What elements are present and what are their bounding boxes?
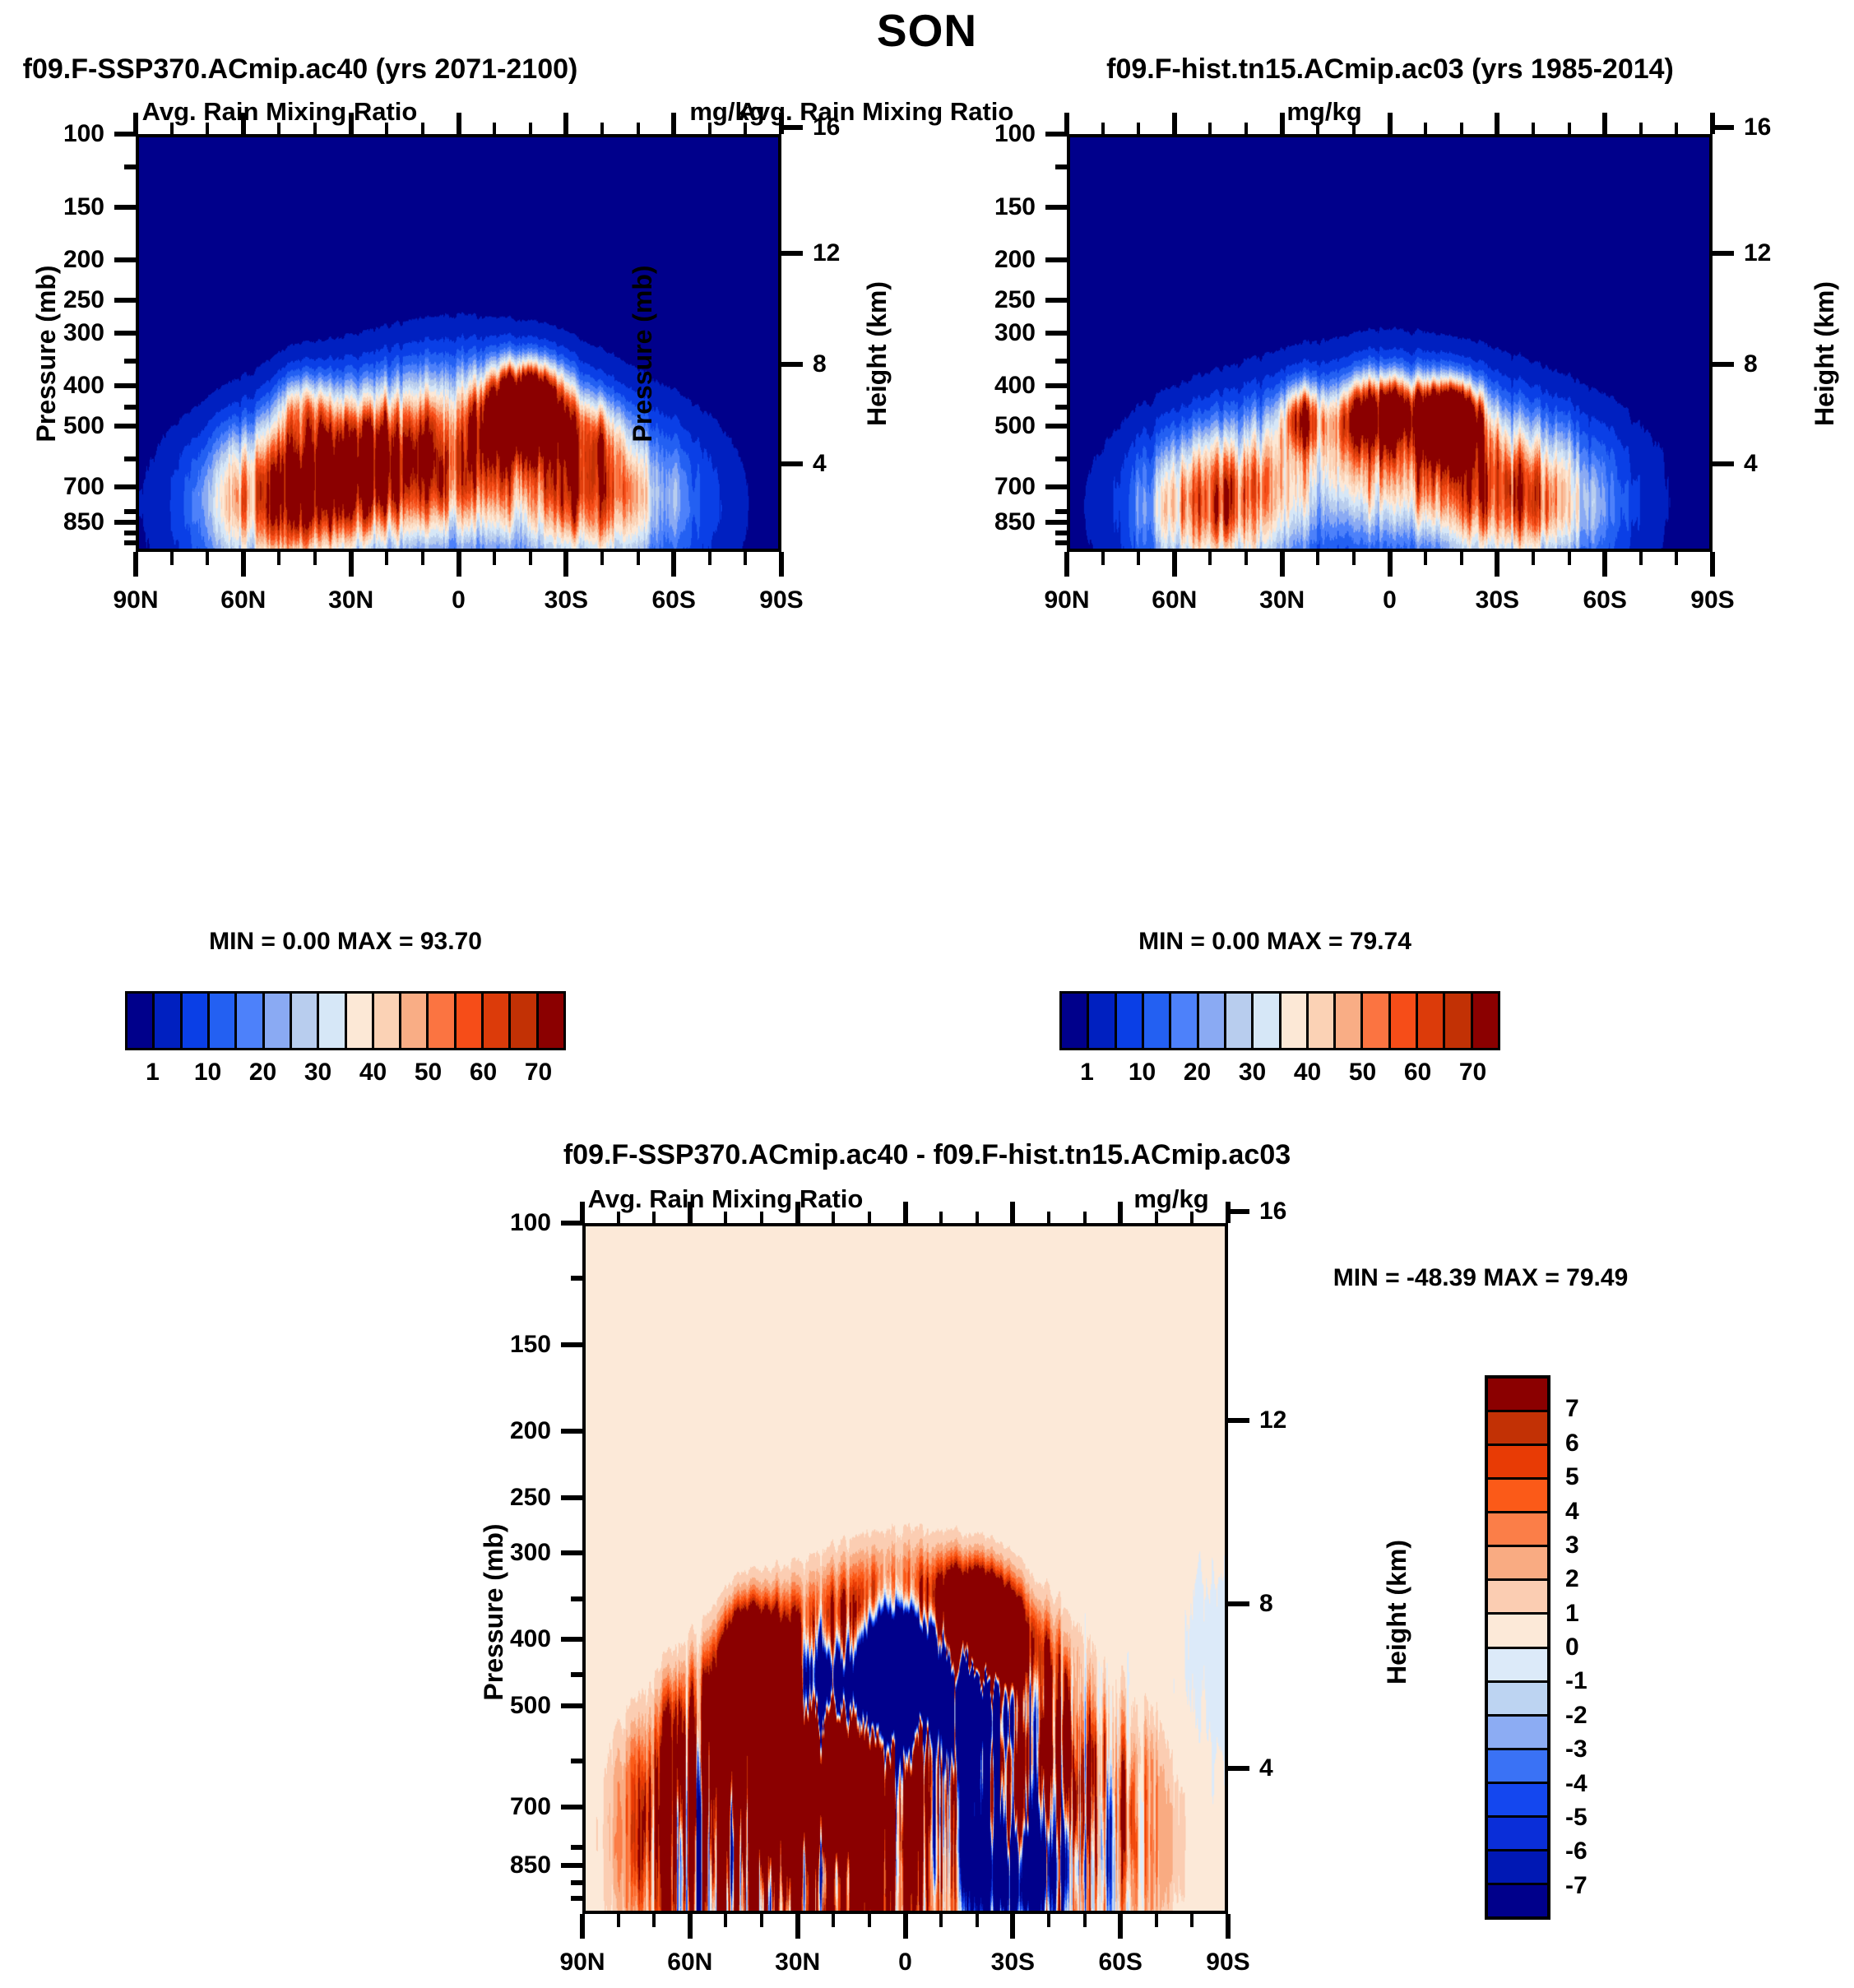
bottom-tick-tl-30 (349, 552, 354, 577)
ylabel-bottom: Pressure (mb) (479, 1523, 509, 1700)
top-tick-tl-0 (457, 113, 461, 134)
x-ticklabel-tr-1: 60N (1152, 586, 1197, 614)
bottom-tick-bd--10 (939, 1914, 943, 1927)
x-ticklabel-tl-2: 30N (328, 586, 373, 614)
bottom-tick-tr-80 (1101, 552, 1105, 565)
bottom-tick-tr-90 (1064, 552, 1069, 577)
height-tick-bd-1 (1228, 1418, 1249, 1423)
top-tick-tr-30 (1280, 113, 1285, 134)
pressure-minortick-tr-5 (1055, 531, 1067, 535)
pressure-tick-tl-2 (114, 257, 136, 262)
contour-plot-top-left (136, 134, 781, 552)
colorbar-cell-bd-14 (1488, 1851, 1547, 1885)
minmax-bottom: MIN = -48.39 MAX = 79.49 (1333, 1264, 1629, 1292)
x-ticklabel-tr-4: 30S (1476, 586, 1519, 614)
colorbar-ticklabel-bd-2: 5 (1565, 1463, 1579, 1491)
pressure-tick-tr-7 (1045, 484, 1067, 489)
colorbar-ticklabel-tl-1: 10 (194, 1059, 221, 1087)
colorbar-ticklabel-tr-3: 30 (1239, 1059, 1266, 1087)
colorbar-cell-tl-1 (155, 994, 182, 1048)
bottom-tick-tr--40 (1532, 552, 1535, 565)
pressure-minortick-tr-3 (1055, 456, 1067, 461)
colorbar-cell-tr-11 (1363, 994, 1390, 1048)
y2label-top-right: Height (km) (1810, 281, 1840, 426)
top-tick-tl--30 (563, 113, 568, 134)
bottom-tick-bd-10 (868, 1914, 871, 1927)
pressure-minortick-tl-6 (124, 540, 136, 545)
x-ticklabel-tl-4: 30S (545, 586, 588, 614)
top-tick-tr-70 (1137, 123, 1140, 134)
bottom-tick-tl--60 (671, 552, 676, 577)
bottom-tick-bd-20 (832, 1914, 835, 1927)
colorbar-top-right[interactable] (1059, 991, 1500, 1050)
top-tick-tr--20 (1460, 123, 1463, 134)
bottom-tick-bd--80 (1190, 1914, 1194, 1927)
top-tick-tl-50 (277, 123, 280, 134)
pressure-minortick-tl-2 (124, 405, 136, 410)
colorbar-cell-bd-7 (1488, 1615, 1547, 1648)
pressure-ticklabel-bd-2: 200 (510, 1417, 551, 1445)
top-tick-tr-90 (1064, 113, 1069, 134)
top-tick-bd-10 (868, 1212, 871, 1223)
colorbar-cell-tr-13 (1418, 994, 1445, 1048)
pressure-minortick-bd-4 (571, 1845, 582, 1850)
colorbar-cell-tr-6 (1226, 994, 1254, 1048)
top-tick-tr-20 (1316, 123, 1319, 134)
colorbar-ticklabel-bd-0: 7 (1565, 1395, 1579, 1423)
bottom-tick-tr-60 (1172, 552, 1177, 577)
colorbar-cell-tl-0 (127, 994, 155, 1048)
top-tick-bd-70 (652, 1212, 656, 1223)
ylabel-top-right: Pressure (mb) (628, 265, 658, 442)
colorbar-cell-bd-0 (1488, 1379, 1547, 1412)
top-tick-bd-20 (832, 1212, 835, 1223)
colorbar-cell-tl-10 (401, 994, 429, 1048)
colorbar-cell-tr-8 (1282, 994, 1309, 1048)
bottom-tick-tl-60 (241, 552, 246, 577)
top-tick-tl--40 (600, 123, 604, 134)
height-tick-tr-1 (1713, 251, 1734, 256)
bottom-tick-bd--90 (1226, 1914, 1231, 1939)
colorbar-ticklabel-bd-10: -3 (1565, 1735, 1587, 1763)
x-ticklabel-tl-1: 60N (220, 586, 266, 614)
pressure-ticklabel-tr-5: 400 (994, 372, 1036, 400)
height-ticklabel-bd-0: 16 (1259, 1198, 1286, 1226)
height-ticklabel-bd-2: 8 (1259, 1590, 1273, 1618)
height-ticklabel-tr-0: 16 (1744, 114, 1771, 141)
bottom-tick-tr--30 (1495, 552, 1499, 577)
colorbar-cell-bd-8 (1488, 1649, 1547, 1683)
top-tick-bd--40 (1047, 1212, 1050, 1223)
panel-title-top-right: f09.F-hist.tn15.ACmip.ac03 (yrs 1985-201… (1106, 53, 1674, 86)
top-tick-bd--60 (1118, 1202, 1123, 1223)
colorbar-ticklabel-bd-4: 3 (1565, 1532, 1579, 1559)
bottom-tick-tr--60 (1602, 552, 1607, 577)
top-tick-tl-20 (385, 123, 388, 134)
height-ticklabel-tr-1: 12 (1744, 239, 1771, 267)
top-tick-tl-70 (206, 123, 209, 134)
height-ticklabel-tl-2: 8 (813, 350, 827, 378)
bottom-tick-tr--20 (1460, 552, 1463, 565)
variable-label-bottom: Avg. Rain Mixing Ratio (588, 1184, 864, 1214)
top-tick-tr--60 (1602, 113, 1607, 134)
pressure-ticklabel-tr-0: 100 (994, 120, 1036, 148)
pressure-tick-bd-4 (561, 1550, 582, 1555)
pressure-ticklabel-bd-6: 500 (510, 1692, 551, 1720)
colorbar-cell-tl-6 (292, 994, 319, 1048)
top-tick-bd--30 (1010, 1202, 1015, 1223)
colorbar-cell-tr-9 (1309, 994, 1336, 1048)
top-tick-tr--80 (1675, 123, 1678, 134)
pressure-ticklabel-tl-6: 500 (63, 412, 104, 440)
pressure-ticklabel-tr-1: 150 (994, 193, 1036, 221)
contour-canvas-bottom (586, 1226, 1225, 1911)
x-ticklabel-tr-2: 30N (1259, 586, 1305, 614)
bottom-tick-tr-20 (1316, 552, 1319, 565)
height-tick-tl-2 (781, 362, 803, 367)
colorbar-cell-tl-11 (429, 994, 456, 1048)
bottom-tick-bd-90 (580, 1914, 585, 1939)
top-tick-tl-90 (133, 113, 138, 134)
pressure-ticklabel-tl-4: 300 (63, 319, 104, 347)
units-label-bottom: mg/kg (1133, 1184, 1208, 1214)
pressure-ticklabel-tl-1: 150 (63, 193, 104, 221)
pressure-ticklabel-tl-7: 700 (63, 473, 104, 501)
ylabel-top-left: Pressure (mb) (31, 265, 62, 442)
top-tick-tl--90 (779, 113, 784, 134)
top-tick-tl--60 (671, 113, 676, 134)
pressure-tick-tl-8 (114, 520, 136, 525)
bottom-tick-tl--20 (529, 552, 532, 565)
bottom-tick-tl-40 (313, 552, 317, 565)
height-ticklabel-tl-1: 12 (813, 239, 840, 267)
bottom-tick-tl-10 (421, 552, 424, 565)
top-tick-bd-40 (760, 1212, 763, 1223)
height-ticklabel-bd-1: 12 (1259, 1406, 1286, 1434)
colorbar-cell-bd-1 (1488, 1412, 1547, 1446)
colorbar-ticklabel-tl-4: 40 (359, 1059, 387, 1087)
pressure-minortick-tl-5 (124, 531, 136, 535)
pressure-tick-tr-4 (1045, 331, 1067, 336)
bottom-tick-tl-20 (385, 552, 388, 565)
panel-title-top-left: f09.F-SSP370.ACmip.ac40 (yrs 2071-2100) (23, 53, 578, 86)
pressure-tick-bd-7 (561, 1805, 582, 1810)
colorbar-cell-bd-11 (1488, 1750, 1547, 1784)
bottom-tick-tr--10 (1424, 552, 1427, 565)
pressure-tick-tr-6 (1045, 424, 1067, 429)
bottom-tick-tr-50 (1208, 552, 1212, 565)
colorbar-cell-bd-15 (1488, 1885, 1547, 1916)
bottom-tick-tr-70 (1137, 552, 1140, 565)
pressure-minortick-tr-4 (1055, 509, 1067, 514)
pressure-ticklabel-tl-3: 250 (63, 286, 104, 314)
bottom-tick-tl-90 (133, 552, 138, 577)
colorbar-cell-bd-13 (1488, 1818, 1547, 1851)
height-tick-bd-3 (1228, 1766, 1249, 1771)
bottom-tick-bd--70 (1155, 1914, 1158, 1927)
pressure-minortick-bd-2 (571, 1672, 582, 1677)
bottom-tick-tl-0 (457, 552, 461, 577)
contour-canvas-top-left (139, 137, 778, 549)
colorbar-cell-bd-5 (1488, 1547, 1547, 1581)
bottom-tick-bd-0 (903, 1914, 908, 1939)
bottom-tick-tl-50 (277, 552, 280, 565)
height-tick-tl-1 (781, 251, 803, 256)
colorbar-ticklabel-bd-7: 0 (1565, 1633, 1579, 1661)
pressure-tick-tr-3 (1045, 298, 1067, 303)
y2label-top-left: Height (km) (862, 281, 892, 426)
bottom-tick-tl--70 (708, 552, 711, 565)
bottom-tick-bd-30 (795, 1914, 800, 1939)
pressure-minortick-tl-0 (124, 165, 136, 169)
pressure-tick-bd-6 (561, 1703, 582, 1708)
top-tick-tr-40 (1244, 123, 1248, 134)
pressure-minortick-bd-0 (571, 1276, 582, 1281)
colorbar-ticklabel-tr-2: 20 (1184, 1059, 1211, 1087)
top-tick-tr-50 (1208, 123, 1212, 134)
pressure-ticklabel-tl-5: 400 (63, 372, 104, 400)
bottom-tick-bd--30 (1010, 1914, 1015, 1939)
top-tick-tl--70 (708, 123, 711, 134)
pressure-minortick-tr-0 (1055, 165, 1067, 169)
height-tick-tr-2 (1713, 362, 1734, 367)
bottom-tick-tr--90 (1710, 552, 1715, 577)
colorbar-ticklabel-bd-14: -7 (1565, 1872, 1587, 1900)
colorbar-cell-tl-9 (374, 994, 401, 1048)
x-ticklabel-tr-3: 0 (1383, 586, 1397, 614)
bottom-tick-tl--10 (493, 552, 496, 565)
pressure-tick-bd-5 (561, 1637, 582, 1642)
top-tick-bd-0 (903, 1202, 908, 1223)
colorbar-cell-bd-3 (1488, 1480, 1547, 1513)
colorbar-cell-tr-4 (1171, 994, 1198, 1048)
bottom-tick-bd--50 (1083, 1914, 1087, 1927)
pressure-minortick-tr-2 (1055, 405, 1067, 410)
top-tick-tl-10 (421, 123, 424, 134)
colorbar-cell-tr-7 (1254, 994, 1281, 1048)
pressure-ticklabel-bd-3: 250 (510, 1484, 551, 1512)
colorbar-cell-tr-15 (1473, 994, 1498, 1048)
height-tick-tr-0 (1713, 125, 1734, 130)
bottom-tick-tl--80 (744, 552, 747, 565)
bottom-tick-bd--60 (1118, 1914, 1123, 1939)
x-ticklabel-tr-6: 90S (1690, 586, 1734, 614)
pressure-minortick-tr-6 (1055, 540, 1067, 545)
colorbar-ticklabel-tr-4: 40 (1294, 1059, 1321, 1087)
pressure-ticklabel-bd-4: 300 (510, 1539, 551, 1567)
pressure-tick-bd-2 (561, 1429, 582, 1434)
height-ticklabel-tl-0: 16 (813, 114, 840, 141)
pressure-ticklabel-tl-0: 100 (63, 120, 104, 148)
colorbar-ticklabel-tl-3: 30 (304, 1059, 331, 1087)
bottom-tick-bd-70 (652, 1914, 656, 1927)
top-tick-tr--10 (1424, 123, 1427, 134)
bottom-tick-tr-10 (1352, 552, 1356, 565)
pressure-tick-tl-4 (114, 331, 136, 336)
colorbar-ticklabel-bd-13: -6 (1565, 1837, 1587, 1865)
top-tick-tl-40 (313, 123, 317, 134)
colorbar-bottom[interactable] (1485, 1375, 1550, 1920)
bottom-tick-tr-0 (1388, 552, 1393, 577)
height-tick-tl-3 (781, 461, 803, 466)
colorbar-ticklabel-tl-2: 20 (249, 1059, 276, 1087)
colorbar-ticklabel-tr-7: 70 (1459, 1059, 1486, 1087)
top-tick-bd-80 (617, 1212, 620, 1223)
x-ticklabel-tl-6: 90S (759, 586, 803, 614)
pressure-minortick-tr-1 (1055, 359, 1067, 364)
colorbar-cell-tr-14 (1445, 994, 1472, 1048)
bottom-tick-tl--90 (779, 552, 784, 577)
colorbar-cell-bd-4 (1488, 1513, 1547, 1547)
colorbar-cell-bd-12 (1488, 1784, 1547, 1818)
bottom-tick-bd-80 (617, 1914, 620, 1927)
top-tick-tr-80 (1101, 123, 1105, 134)
bottom-tick-tr--70 (1639, 552, 1643, 565)
colorbar-cell-tl-5 (265, 994, 292, 1048)
height-tick-bd-2 (1228, 1601, 1249, 1606)
bottom-tick-tr--80 (1675, 552, 1678, 565)
x-ticklabel-bd-5: 60S (1098, 1949, 1142, 1976)
contour-plot-top-right (1067, 134, 1713, 552)
height-ticklabel-tl-3: 4 (813, 450, 827, 478)
pressure-ticklabel-tr-7: 700 (994, 473, 1036, 501)
top-tick-bd--80 (1190, 1212, 1194, 1223)
pressure-ticklabel-bd-8: 850 (510, 1851, 551, 1879)
x-ticklabel-tr-5: 60S (1583, 586, 1626, 614)
colorbar-cell-bd-9 (1488, 1683, 1547, 1717)
colorbar-cell-tr-1 (1089, 994, 1116, 1048)
colorbar-cell-tl-13 (484, 994, 511, 1048)
pressure-tick-tl-6 (114, 424, 136, 429)
contour-plot-bottom (582, 1223, 1228, 1914)
pressure-minortick-tl-4 (124, 509, 136, 514)
top-tick-tl--50 (637, 123, 640, 134)
top-tick-bd--10 (939, 1212, 943, 1223)
top-tick-tr-60 (1172, 113, 1177, 134)
colorbar-ticklabel-bd-9: -2 (1565, 1702, 1587, 1730)
colorbar-ticklabel-tr-1: 10 (1129, 1059, 1156, 1087)
pressure-tick-tl-3 (114, 298, 136, 303)
colorbar-ticklabel-tl-6: 60 (470, 1059, 497, 1087)
pressure-ticklabel-tr-4: 300 (994, 319, 1036, 347)
pressure-minortick-bd-5 (571, 1880, 582, 1885)
pressure-ticklabel-tr-3: 250 (994, 286, 1036, 314)
colorbar-ticklabel-bd-6: 1 (1565, 1600, 1579, 1628)
pressure-minortick-bd-6 (571, 1896, 582, 1901)
colorbar-ticklabel-tl-0: 1 (146, 1059, 160, 1087)
contour-canvas-top-right (1070, 137, 1709, 549)
x-ticklabel-bd-6: 90S (1206, 1949, 1249, 1976)
pressure-ticklabel-tr-6: 500 (994, 412, 1036, 440)
pressure-tick-tr-2 (1045, 257, 1067, 262)
pressure-ticklabel-bd-1: 150 (510, 1331, 551, 1359)
colorbar-cell-tl-8 (347, 994, 374, 1048)
colorbar-ticklabel-tr-5: 50 (1349, 1059, 1376, 1087)
bottom-tick-bd-40 (760, 1914, 763, 1927)
top-tick-tl-60 (241, 113, 246, 134)
colorbar-ticklabel-tl-5: 50 (415, 1059, 442, 1087)
pressure-tick-tl-7 (114, 484, 136, 489)
pressure-ticklabel-bd-5: 400 (510, 1625, 551, 1653)
pressure-ticklabel-bd-7: 700 (510, 1793, 551, 1821)
colorbar-cell-tl-7 (319, 994, 346, 1048)
top-tick-tr--30 (1495, 113, 1499, 134)
minmax-top-left: MIN = 0.00 MAX = 93.70 (209, 928, 482, 956)
top-tick-bd--90 (1226, 1202, 1231, 1223)
x-ticklabel-tl-3: 0 (452, 586, 466, 614)
colorbar-ticklabel-bd-1: 6 (1565, 1430, 1579, 1457)
pressure-tick-tr-5 (1045, 383, 1067, 388)
colorbar-ticklabel-bd-5: 2 (1565, 1565, 1579, 1593)
top-tick-tr--70 (1639, 123, 1643, 134)
bottom-tick-tr-40 (1244, 552, 1248, 565)
bottom-tick-tr--50 (1568, 552, 1571, 565)
top-tick-tr-10 (1352, 123, 1356, 134)
top-tick-bd--70 (1155, 1212, 1158, 1223)
bottom-tick-tl-80 (170, 552, 174, 565)
top-tick-tl-80 (170, 123, 174, 134)
colorbar-top-left[interactable] (125, 991, 566, 1050)
x-ticklabel-tr-0: 90N (1044, 586, 1089, 614)
top-tick-bd--50 (1083, 1212, 1087, 1223)
bottom-tick-bd-50 (724, 1914, 727, 1927)
pressure-minortick-bd-3 (571, 1759, 582, 1763)
colorbar-cell-tr-0 (1062, 994, 1089, 1048)
bottom-tick-tl--50 (637, 552, 640, 565)
colorbar-cell-bd-10 (1488, 1717, 1547, 1750)
pressure-ticklabel-tr-8: 850 (994, 508, 1036, 536)
top-tick-bd--20 (976, 1212, 979, 1223)
x-ticklabel-bd-4: 30S (991, 1949, 1035, 1976)
colorbar-cell-tr-12 (1391, 994, 1418, 1048)
top-tick-bd-60 (688, 1202, 693, 1223)
top-tick-tr--90 (1710, 113, 1715, 134)
colorbar-cell-tl-4 (237, 994, 264, 1048)
colorbar-cell-tr-3 (1144, 994, 1171, 1048)
pressure-tick-tr-8 (1045, 520, 1067, 525)
x-ticklabel-bd-0: 90N (559, 1949, 605, 1976)
top-tick-bd-30 (795, 1202, 800, 1223)
x-ticklabel-bd-2: 30N (775, 1949, 820, 1976)
y2label-bottom: Height (km) (1382, 1540, 1412, 1684)
top-tick-bd-90 (580, 1202, 585, 1223)
pressure-ticklabel-tl-8: 850 (63, 508, 104, 536)
bottom-tick-tl--40 (600, 552, 604, 565)
units-label-top-right: mg/kg (1286, 97, 1361, 127)
top-tick-tl--80 (744, 123, 747, 134)
pressure-minortick-tl-3 (124, 456, 136, 461)
pressure-tick-tl-5 (114, 383, 136, 388)
bottom-tick-bd-60 (688, 1914, 693, 1939)
pressure-tick-tr-1 (1045, 205, 1067, 210)
height-tick-bd-0 (1228, 1209, 1249, 1214)
colorbar-ticklabel-tl-7: 70 (525, 1059, 552, 1087)
bottom-tick-bd--40 (1047, 1914, 1050, 1927)
height-ticklabel-bd-3: 4 (1259, 1754, 1273, 1782)
colorbar-ticklabel-bd-3: 4 (1565, 1498, 1579, 1526)
minmax-top-right: MIN = 0.00 MAX = 79.74 (1138, 928, 1411, 956)
bottom-tick-tl-70 (206, 552, 209, 565)
top-tick-tl--10 (493, 123, 496, 134)
pressure-tick-bd-1 (561, 1342, 582, 1347)
colorbar-cell-bd-2 (1488, 1446, 1547, 1480)
x-ticklabel-tl-0: 90N (113, 586, 158, 614)
x-ticklabel-bd-3: 0 (898, 1949, 912, 1976)
top-tick-tl-30 (349, 113, 354, 134)
colorbar-ticklabel-bd-11: -4 (1565, 1770, 1587, 1798)
colorbar-ticklabel-bd-8: -1 (1565, 1667, 1587, 1695)
bottom-tick-bd--20 (976, 1914, 979, 1927)
